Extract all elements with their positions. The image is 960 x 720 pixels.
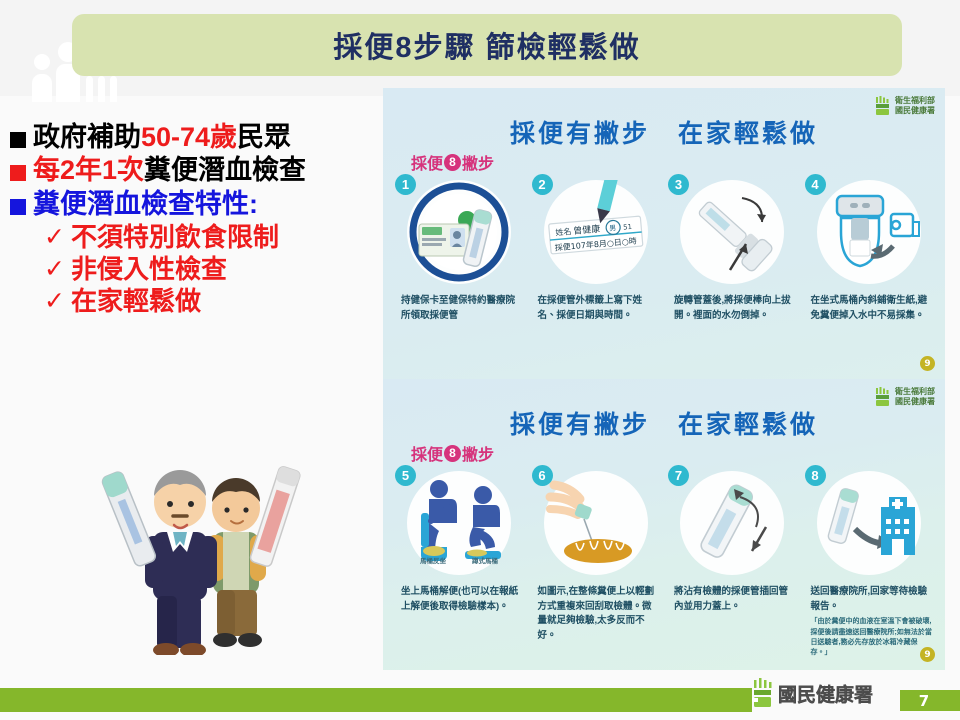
bullet-item-frequency: 每2年1次糞便潛血檢查: [10, 155, 370, 186]
hpa-logo-icon: [752, 678, 774, 708]
agency-logo-line1: 衛生福利部: [895, 96, 935, 106]
step-6-caption: 如圖示,在整條糞便上以輕劃方式重複來回刮取檢體。微量就足夠檢驗,太多反而不好。: [538, 585, 660, 644]
step-1-caption: 持健保卡至健保特約醫療院所領取採便管: [401, 294, 523, 323]
corner-badge-top: 9: [920, 356, 935, 371]
square-bullet-icon: [10, 199, 26, 215]
step-number-badge: 5: [395, 465, 416, 486]
step-3-caption: 旋轉管蓋後,將採便棒向上拔開。裡面的水勿倒掉。: [674, 294, 796, 323]
insert-tube-icon: [680, 471, 784, 575]
svg-text:51: 51: [622, 223, 632, 232]
step-7-caption: 將沾有檢體的採便管插回管內並用力蓋上。: [674, 585, 796, 614]
twist-cap-icon: [680, 180, 784, 284]
scrape-stool-icon: [544, 471, 648, 575]
check-icon: ✓: [44, 254, 65, 283]
check-item-3: ✓ 在家輕鬆做: [44, 286, 370, 316]
page-title: 採便8步驟 篩檢輕鬆做: [72, 14, 902, 76]
sublabel-squat-toilet: 蹲式馬桶: [472, 555, 498, 565]
step-2-caption: 在採便管外標籤上寫下姓名、採便日期與時間。: [538, 294, 660, 323]
nhi-card-and-tube-icon: [407, 180, 511, 284]
step-5-caption: 坐上馬桶解便(也可以在報紙上解便後取得檢驗樣本)。: [401, 585, 523, 614]
check-icon: ✓: [44, 222, 65, 251]
infographic-panel: 衛生福利部 國民健康署 採便有撇步 在家輕鬆做 採便 8 撇步: [383, 88, 945, 670]
step-4-caption: 在坐式馬桶內斜鋪衛生紙,避免糞便掉入水中不易採集。: [811, 294, 933, 323]
sublabel-reverse-sit: 馬桶反坐: [420, 555, 446, 565]
check-item-2: ✓ 非侵入性檢查: [44, 254, 370, 284]
footer-logo: 國民健康署: [752, 678, 873, 708]
step-5-sublabels: 馬桶反坐 蹲式馬桶: [407, 555, 511, 565]
bullet-item-characteristics: 糞便潛血檢查特性:: [10, 189, 370, 220]
panel-subheading-top: 採便 8 撇步: [411, 150, 494, 174]
footer-bar: [0, 688, 752, 712]
infographic-bottom-half: 衛生福利部 國民健康署 採便有撇步 在家輕鬆做 採便 8 撇步: [383, 379, 945, 670]
infographic-top-half: 衛生福利部 國民健康署 採便有撇步 在家輕鬆做 採便 8 撇步: [383, 88, 945, 379]
page-number: 7: [900, 690, 948, 711]
subheading-suffix: 撇步: [462, 150, 494, 174]
svg-text:男: 男: [608, 224, 616, 233]
step-number-badge: 7: [668, 465, 689, 486]
bullet-1-part-2: 50-74歲: [141, 122, 237, 152]
check-item-1-label: 不須特別飲食限制: [71, 222, 279, 252]
step-8-note: 「由於糞便中的血液在室溫下會被破壞,採便後請盡速送回醫療院所;如無法於當日送驗者…: [811, 617, 933, 658]
subheading-suffix: 撇步: [462, 441, 494, 465]
mohw-logo-icon: [875, 387, 892, 407]
bullet-item-subsidy: 政府補助50-74歲民眾: [10, 122, 370, 153]
step-8-caption-text: 送回醫療院所,回家等待檢驗報告。: [811, 586, 928, 612]
step-number-badge: 8: [805, 465, 826, 486]
bullet-3-text: 糞便潛血檢查特性:: [33, 189, 258, 220]
elderly-men-illustration: [95, 440, 325, 655]
footer-logo-text: 國民健康署: [778, 680, 873, 707]
return-hospital-icon: [817, 471, 921, 575]
agency-logo-line1: 衛生福利部: [895, 387, 935, 397]
agency-logo-bottom: 衛生福利部 國民健康署: [875, 387, 935, 407]
subheading-number-badge: 8: [444, 445, 461, 462]
subheading-number-badge: 8: [444, 154, 461, 171]
step-number-badge: 3: [668, 174, 689, 195]
step-number-badge: 1: [395, 174, 416, 195]
bullet-1-part-3: 民眾: [237, 122, 291, 152]
subheading-prefix: 採便: [411, 150, 443, 174]
check-item-3-label: 在家輕鬆做: [71, 286, 201, 316]
panel-subheading-bottom: 採便 8 撇步: [411, 441, 494, 465]
step-8-caption: 送回醫療院所,回家等待檢驗報告。 「由於糞便中的血液在室溫下會被破壞,採便後請盡…: [811, 585, 933, 658]
step-number-badge: 6: [532, 465, 553, 486]
bullet-list: 政府補助50-74歲民眾 每2年1次糞便潛血檢查 糞便潛血檢查特性: ✓ 不須特…: [10, 122, 370, 316]
check-item-2-label: 非侵入性檢查: [71, 254, 227, 284]
bullet-2-part-1: 每2年1次: [33, 155, 144, 185]
panel-heading-top: 採便有撇步 在家輕鬆做: [383, 114, 945, 150]
mohw-logo-icon: [875, 96, 892, 116]
square-bullet-icon: [10, 132, 26, 148]
svg-text:姓名: 姓名: [554, 226, 571, 237]
agency-logo-top: 衛生福利部 國民健康署: [875, 96, 935, 116]
bullet-1-part-1: 政府補助: [33, 122, 141, 152]
step-number-badge: 4: [805, 174, 826, 195]
check-icon: ✓: [44, 286, 65, 315]
check-item-1: ✓ 不須特別飲食限制: [44, 222, 370, 252]
subheading-prefix: 採便: [411, 441, 443, 465]
bullet-2-part-2: 糞便潛血檢查: [144, 155, 306, 185]
toilet-paper-icon: [817, 180, 921, 284]
step-number-badge: 2: [532, 174, 553, 195]
panel-heading-bottom: 採便有撇步 在家輕鬆做: [383, 405, 945, 441]
square-bullet-icon: [10, 165, 26, 181]
slide-root: 採便8步驟 篩檢輕鬆做 政府補助50-74歲民眾 每2年1次糞便潛血檢查 糞便潛…: [0, 0, 960, 720]
corner-badge-bottom: 9: [920, 647, 935, 662]
label-writing-icon: 姓名 曾健康 男 51 採便107年8月○日○時: [544, 180, 648, 284]
